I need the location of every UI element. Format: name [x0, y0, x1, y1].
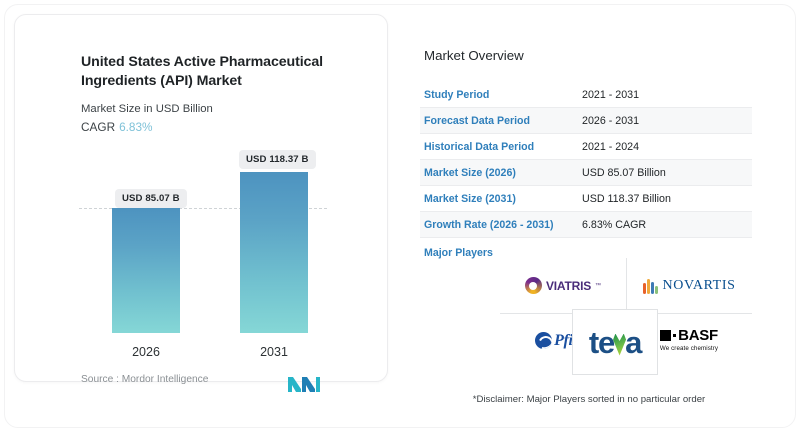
- row-value: USD 85.07 Billion: [582, 167, 666, 179]
- table-row: Growth Rate (2026 - 2031) 6.83% CAGR: [420, 212, 752, 238]
- viatris-wordmark: VIATRIS: [546, 279, 591, 293]
- market-report-infographic: United States Active Pharmaceutical Ingr…: [0, 0, 800, 432]
- table-row: Market Size (2026) USD 85.07 Billion: [420, 160, 752, 186]
- row-key: Historical Data Period: [424, 141, 582, 153]
- player-logo-teva: tea: [572, 309, 658, 375]
- market-overview-table: Study Period 2021 - 2031 Forecast Data P…: [420, 82, 752, 268]
- chart-card: United States Active Pharmaceutical Ingr…: [14, 14, 388, 382]
- x-axis-label-2026: 2026: [101, 345, 191, 359]
- teva-wordmark: tea: [589, 327, 641, 358]
- basf-tagline: We create chemistry: [660, 346, 718, 352]
- novartis-mark-icon: [643, 277, 658, 294]
- row-key: Forecast Data Period: [424, 115, 582, 127]
- bar-2031[interactable]: [240, 172, 308, 333]
- basf-wordmark: BASF: [678, 328, 718, 343]
- bar-chart-plot-area: USD 85.07 B USD 118.37 B 2026 2031: [15, 15, 389, 383]
- market-overview-title: Market Overview: [424, 48, 524, 63]
- x-axis-label-2031: 2031: [229, 345, 319, 359]
- novartis-wordmark: NOVARTIS: [663, 278, 736, 294]
- table-row: Forecast Data Period 2026 - 2031: [420, 108, 752, 134]
- player-logo-viatris: VIATRIS™: [500, 258, 626, 313]
- viatris-mark-icon: [525, 277, 542, 294]
- row-value: 6.83% CAGR: [582, 219, 646, 231]
- player-logo-novartis: NOVARTIS: [626, 258, 752, 313]
- row-key: Market Size (2031): [424, 193, 582, 205]
- row-key: Market Size (2026): [424, 167, 582, 179]
- source-text: Source : Mordor Intelligence: [81, 374, 208, 385]
- mordor-intelligence-logo: [288, 375, 320, 393]
- row-key: Growth Rate (2026 - 2031): [424, 219, 582, 231]
- table-row: Market Size (2031) USD 118.37 Billion: [420, 186, 752, 212]
- pfizer-mark-icon: [535, 332, 552, 349]
- basf-dot-icon: [673, 334, 676, 337]
- row-key: Study Period: [424, 89, 582, 101]
- row-value: 2026 - 2031: [582, 115, 639, 127]
- row-value: 2021 - 2024: [582, 141, 639, 153]
- bar-2026[interactable]: [112, 208, 180, 333]
- table-row: Study Period 2021 - 2031: [420, 82, 752, 108]
- basf-square-icon: [660, 330, 671, 341]
- bar-label-2026: USD 85.07 B: [115, 189, 187, 208]
- row-value: 2021 - 2031: [582, 89, 639, 101]
- teva-leaf-icon: [613, 334, 626, 356]
- bar-label-2031: USD 118.37 B: [239, 150, 316, 169]
- table-row: Historical Data Period 2021 - 2024: [420, 134, 752, 160]
- disclaimer-text: *Disclaimer: Major Players sorted in no …: [424, 394, 754, 405]
- row-value: USD 118.37 Billion: [582, 193, 671, 205]
